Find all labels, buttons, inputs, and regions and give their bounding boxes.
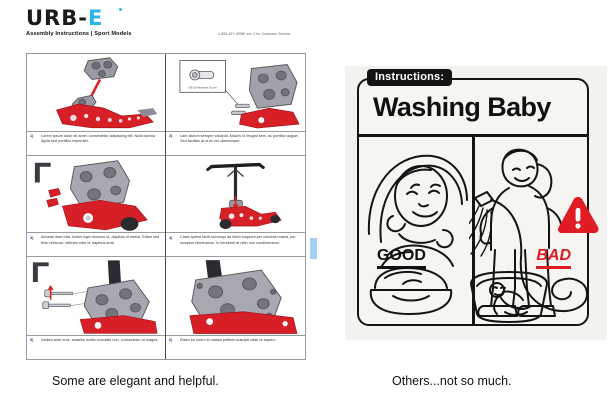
step-caption: 5) Nullam ante eros, sodales mollis conv… <box>27 335 165 359</box>
image-selection-handle[interactable] <box>310 238 317 259</box>
document-subtitle: Assembly Instructions | Sport Models <box>26 31 132 37</box>
assembly-step-cell: 5) Nullam ante eros, sodales mollis conv… <box>27 257 166 359</box>
step-illustration-bolt-insert <box>27 257 165 335</box>
step-text: Lorem ipsum dolor sit amet, consectetur … <box>41 134 162 155</box>
document-header: URB-E Assembly Instructions | Sport Mode… <box>20 6 312 32</box>
logo-main-text: URB- <box>26 6 88 30</box>
step-number: 1) <box>30 134 38 155</box>
assembly-step-grid: 1) Lorem ipsum dolor sit amet, consectet… <box>26 53 306 360</box>
step-caption: 2) Lam dictum semper volutpat. Mauris in… <box>166 131 305 155</box>
urbe-assembly-document: URB-E Assembly Instructions | Sport Mode… <box>20 6 312 364</box>
instructions-tab-label: Instructions: <box>367 69 452 86</box>
warning-triangle-icon <box>556 195 600 235</box>
customer-service-line: 1-855-327-URBE ext. 4 for Customer Servi… <box>218 32 290 36</box>
step-number: 6) <box>169 338 177 359</box>
assembly-step-cell: 6) Etiam eu lorem id massa pretium susci… <box>166 257 305 359</box>
step-number: 4) <box>169 235 177 256</box>
step-caption: 1) Lorem ipsum dolor sit amet, consectet… <box>27 131 165 155</box>
step-caption: 6) Etiam eu lorem id massa pretium susci… <box>166 335 305 359</box>
step-illustration-hex-key <box>27 156 165 233</box>
step-caption: 3) Aenean diam nisl, luctus eget rhoncus… <box>27 232 165 256</box>
urbe-logo: URB-E <box>26 8 103 29</box>
assembly-step-cell: 4) Class aptent taciti sociosqu ad litor… <box>166 156 305 258</box>
step-illustration-bolt-callout: M5x16 Hardware Socket <box>166 54 305 131</box>
washing-baby-sign-photo: Instructions: Washing Baby <box>345 66 607 340</box>
instruction-sign-card: Instructions: Washing Baby <box>357 78 589 326</box>
svg-text:M5x16 Hardware Socket: M5x16 Hardware Socket <box>189 85 218 89</box>
step-number: 3) <box>30 235 38 256</box>
step-number: 2) <box>169 134 177 155</box>
baby-in-basin-illustration <box>467 268 553 326</box>
caption-right: Others...not so much. <box>392 374 512 388</box>
logo-accent-text: E <box>88 6 103 30</box>
step-text: Aenean diam nisl, luctus eget rhoncus ut… <box>41 235 162 256</box>
bad-label: BAD <box>536 248 571 269</box>
step-text: Nullam ante eros, sodales mollis convall… <box>41 338 158 359</box>
step-text: Class aptent taciti sociosqu ad litora t… <box>180 235 302 256</box>
step-illustration-full-scooter <box>166 156 305 233</box>
assembly-step-cell: 1) Lorem ipsum dolor sit amet, consectet… <box>27 54 166 156</box>
logo-dot-icon <box>119 8 122 11</box>
caption-left: Some are elegant and helpful. <box>52 374 219 388</box>
good-scene-illustration <box>363 138 471 324</box>
assembly-step-cell: M5x16 Hardware Socket <box>166 54 305 156</box>
step-caption: 4) Class aptent taciti sociosqu ad litor… <box>166 232 305 256</box>
step-illustration-stem-clamp <box>27 54 165 131</box>
sign-title: Washing Baby <box>373 92 551 123</box>
step-text: Lam dictum semper volutpat. Mauris in fe… <box>180 134 302 155</box>
good-label: GOOD <box>377 248 426 269</box>
step-illustration-clamp-final <box>166 257 305 335</box>
step-number: 5) <box>30 338 38 359</box>
assembly-step-cell: 3) Aenean diam nisl, luctus eget rhoncus… <box>27 156 166 258</box>
step-text: Etiam eu lorem id massa pretium suscipit… <box>180 338 276 359</box>
